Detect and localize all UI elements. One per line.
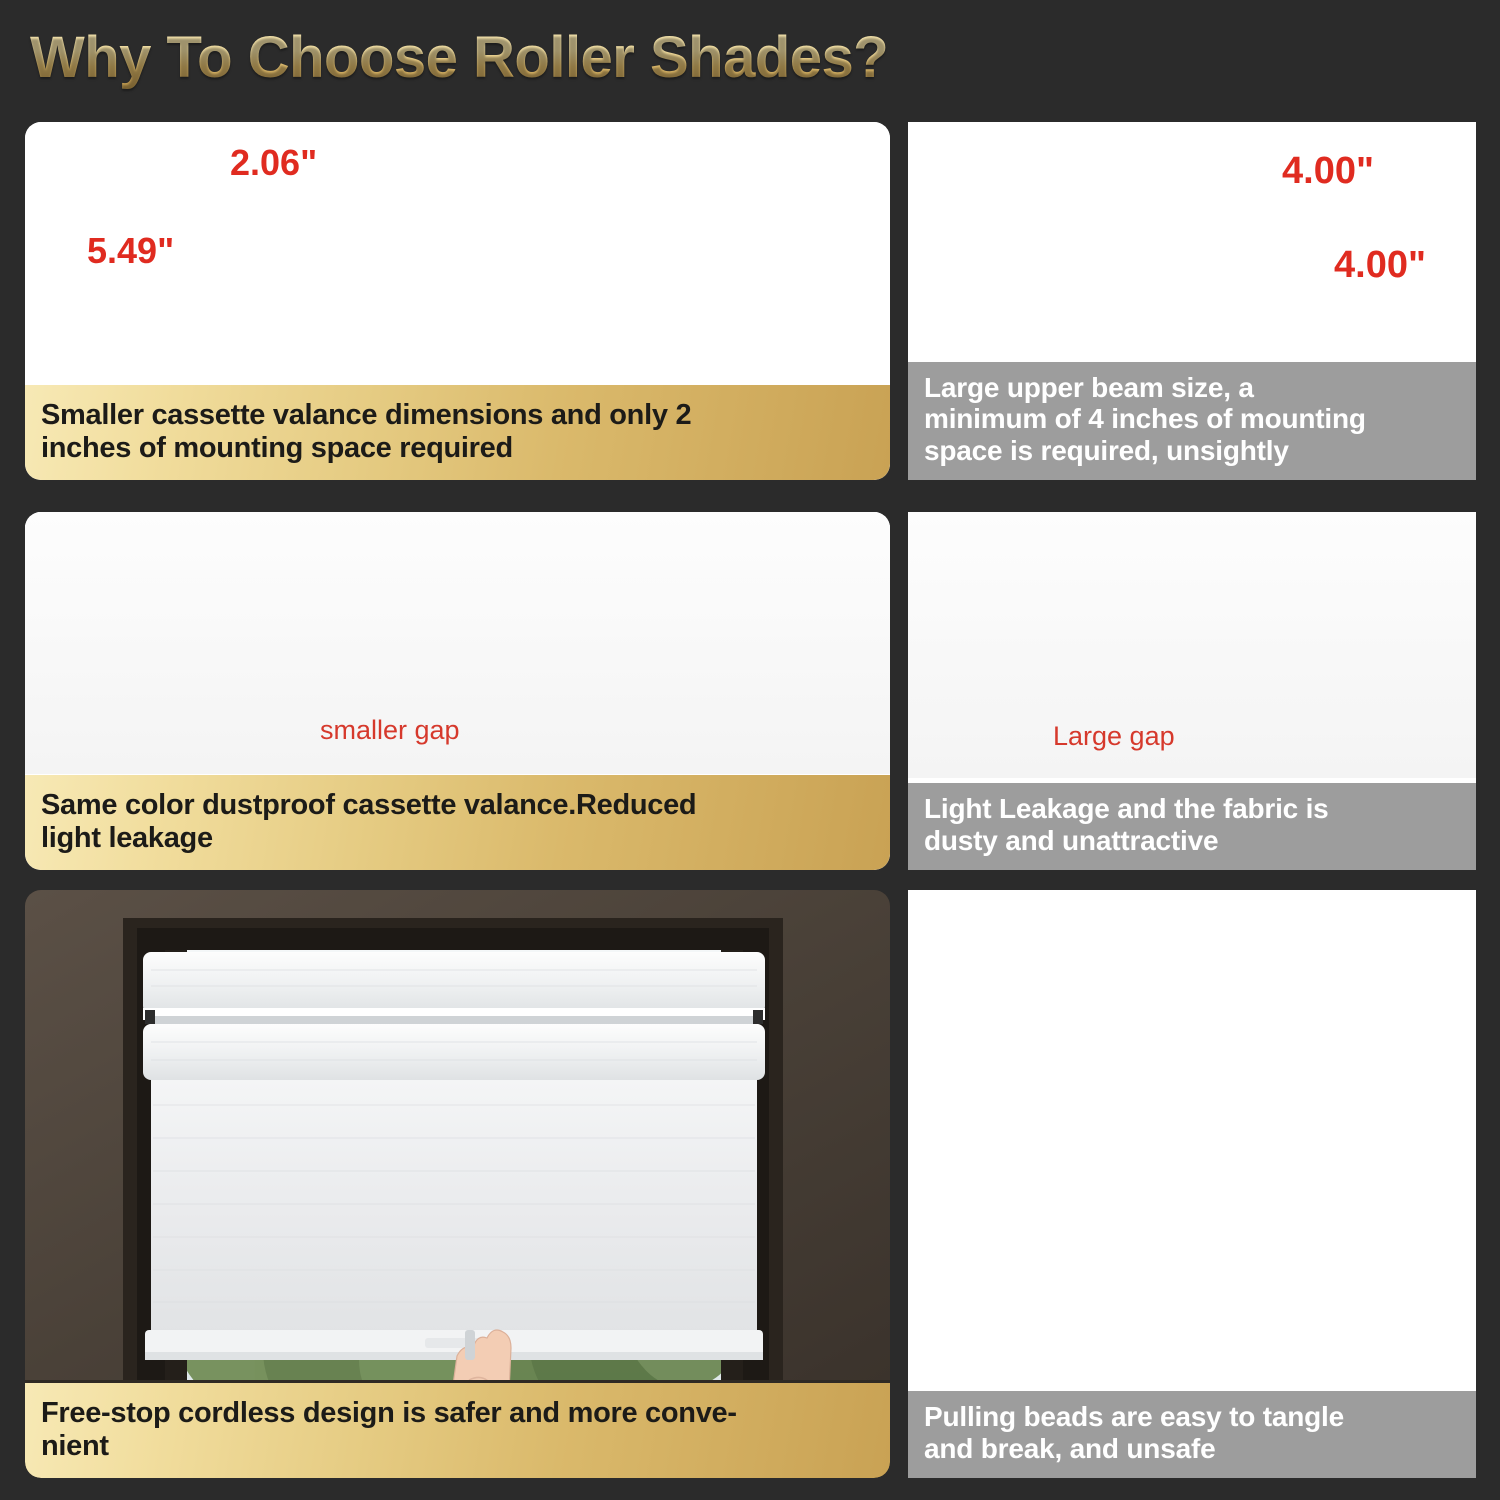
upper-beam-photo: 4.00" 4.00" [908, 122, 1476, 392]
panel-cordless-design: Free-stop cordless design is safer and m… [25, 890, 890, 1478]
dustproof-cassette-photo: smaller gap [25, 512, 890, 774]
pulling-beads-photo [908, 890, 1476, 1378]
upper-beam-caption: Large upper beam size, a minimum of 4 in… [908, 362, 1476, 480]
cassette-valance [143, 952, 765, 1080]
width-dimension-label: 2.06" [230, 142, 317, 184]
height-dimension-label: 5.49" [87, 230, 174, 272]
dustproof-cassette-caption: Same color dustproof cassette valance.Re… [25, 775, 890, 870]
cassette-dimensions-photo: 2.06" 5.49" [25, 122, 890, 380]
light-leakage-caption: Light Leakage and the fabric is dusty an… [908, 783, 1476, 870]
light-leakage-photo: Large gap [908, 512, 1476, 778]
pulling-beads-caption: Pulling beads are easy to tangle and bre… [908, 1391, 1476, 1478]
height-dimension-label: 4.00" [1334, 244, 1426, 287]
cordless-design-caption: Free-stop cordless design is safer and m… [25, 1383, 890, 1478]
panel-upper-beam-size: 4.00" 4.00" Large upper beam size, a min… [908, 122, 1476, 480]
cassette-dimensions-caption: Smaller cassette valance dimensions and … [25, 385, 890, 480]
large-gap-label: Large gap [1053, 721, 1175, 752]
panel-cassette-dimensions: 2.06" 5.49" Smaller cassette valance dim… [25, 122, 890, 480]
panel-pulling-beads: Pulling beads are easy to tangle and bre… [908, 890, 1476, 1478]
infographic-page: Why To Choose Roller Shades? [0, 0, 1500, 1500]
page-title: Why To Choose Roller Shades? [30, 22, 1130, 94]
panel-light-leakage: Large gap Light Leakage and the fabric i… [908, 512, 1476, 870]
shade-fabric [151, 1080, 757, 1334]
cordless-design-photo [25, 890, 890, 1380]
width-dimension-label: 4.00" [1282, 150, 1374, 193]
smaller-gap-label: smaller gap [320, 715, 460, 746]
panel-dustproof-cassette: smaller gap Same color dustproof cassett… [25, 512, 890, 870]
